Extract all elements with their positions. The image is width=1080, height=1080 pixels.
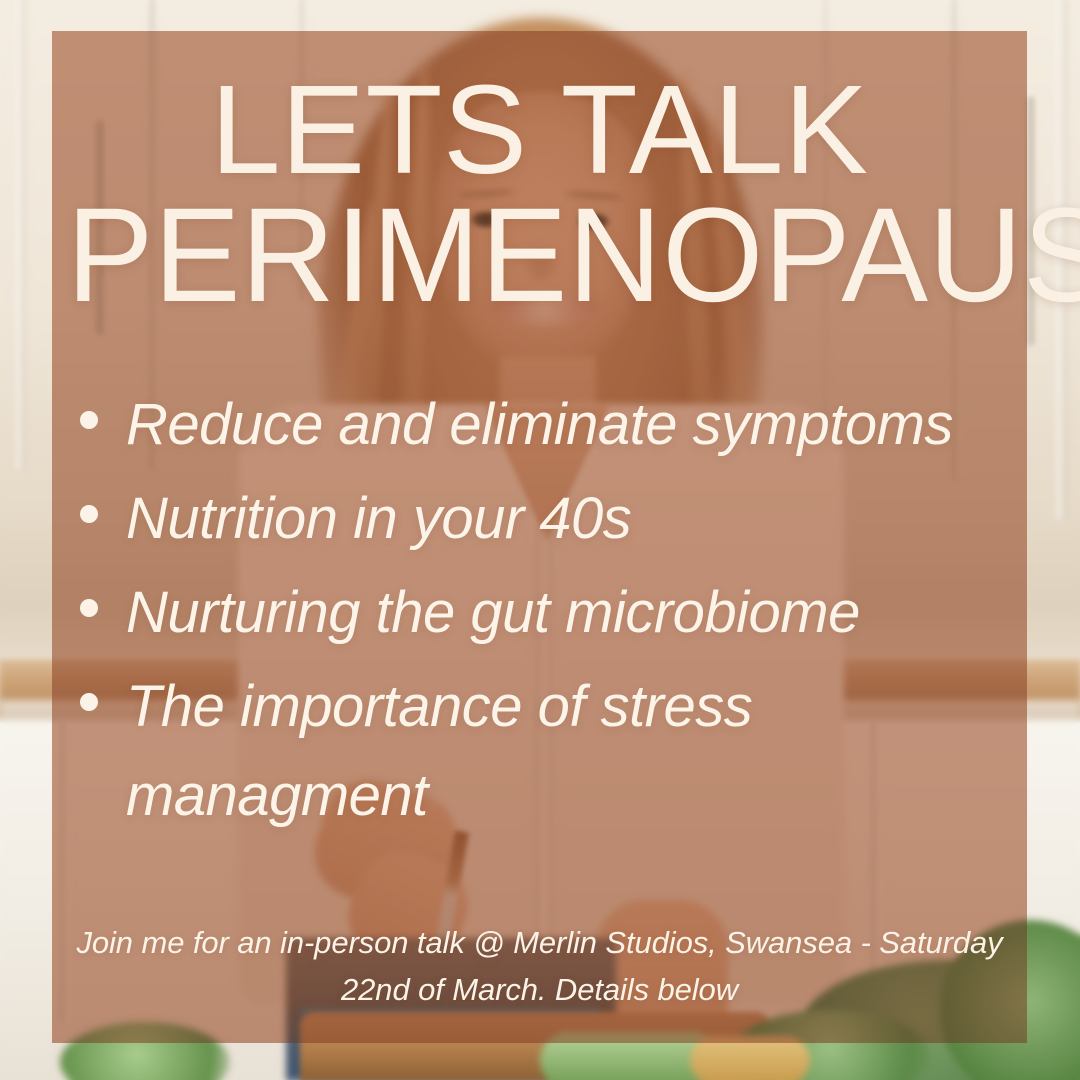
list-item: Reduce and eliminate symptoms	[80, 381, 1017, 469]
event-details-text: Join me for an in-person talk @ Merlin S…	[60, 919, 1019, 1013]
bullet-dot-icon	[80, 505, 98, 523]
bullet-dot-icon	[80, 411, 98, 429]
list-item: Nurturing the gut microbiome	[80, 569, 1017, 657]
page-title: LETS TALK PERIMENOPAUSE	[52, 71, 1027, 319]
bullet-label: Nurturing the gut microbiome	[126, 569, 860, 657]
bullet-list: Reduce and eliminate symptoms Nutrition …	[80, 381, 1017, 846]
poster-content: LETS TALK PERIMENOPAUSE Reduce and elimi…	[52, 31, 1027, 1043]
bullet-label: Nutrition in your 40s	[126, 475, 631, 563]
headline-line-2: PERIMENOPAUSE	[67, 193, 1013, 319]
bullet-label: Reduce and eliminate symptoms	[126, 381, 953, 469]
social-media-poster: LETS TALK PERIMENOPAUSE Reduce and elimi…	[0, 0, 1080, 1080]
bullet-dot-icon	[80, 693, 98, 711]
bullet-dot-icon	[80, 599, 98, 617]
list-item: Nutrition in your 40s	[80, 475, 1017, 563]
bullet-label: The importance of stress managment	[126, 663, 1017, 839]
headline-line-1: LETS TALK	[52, 71, 1027, 189]
list-item: The importance of stress managment	[80, 663, 1017, 839]
